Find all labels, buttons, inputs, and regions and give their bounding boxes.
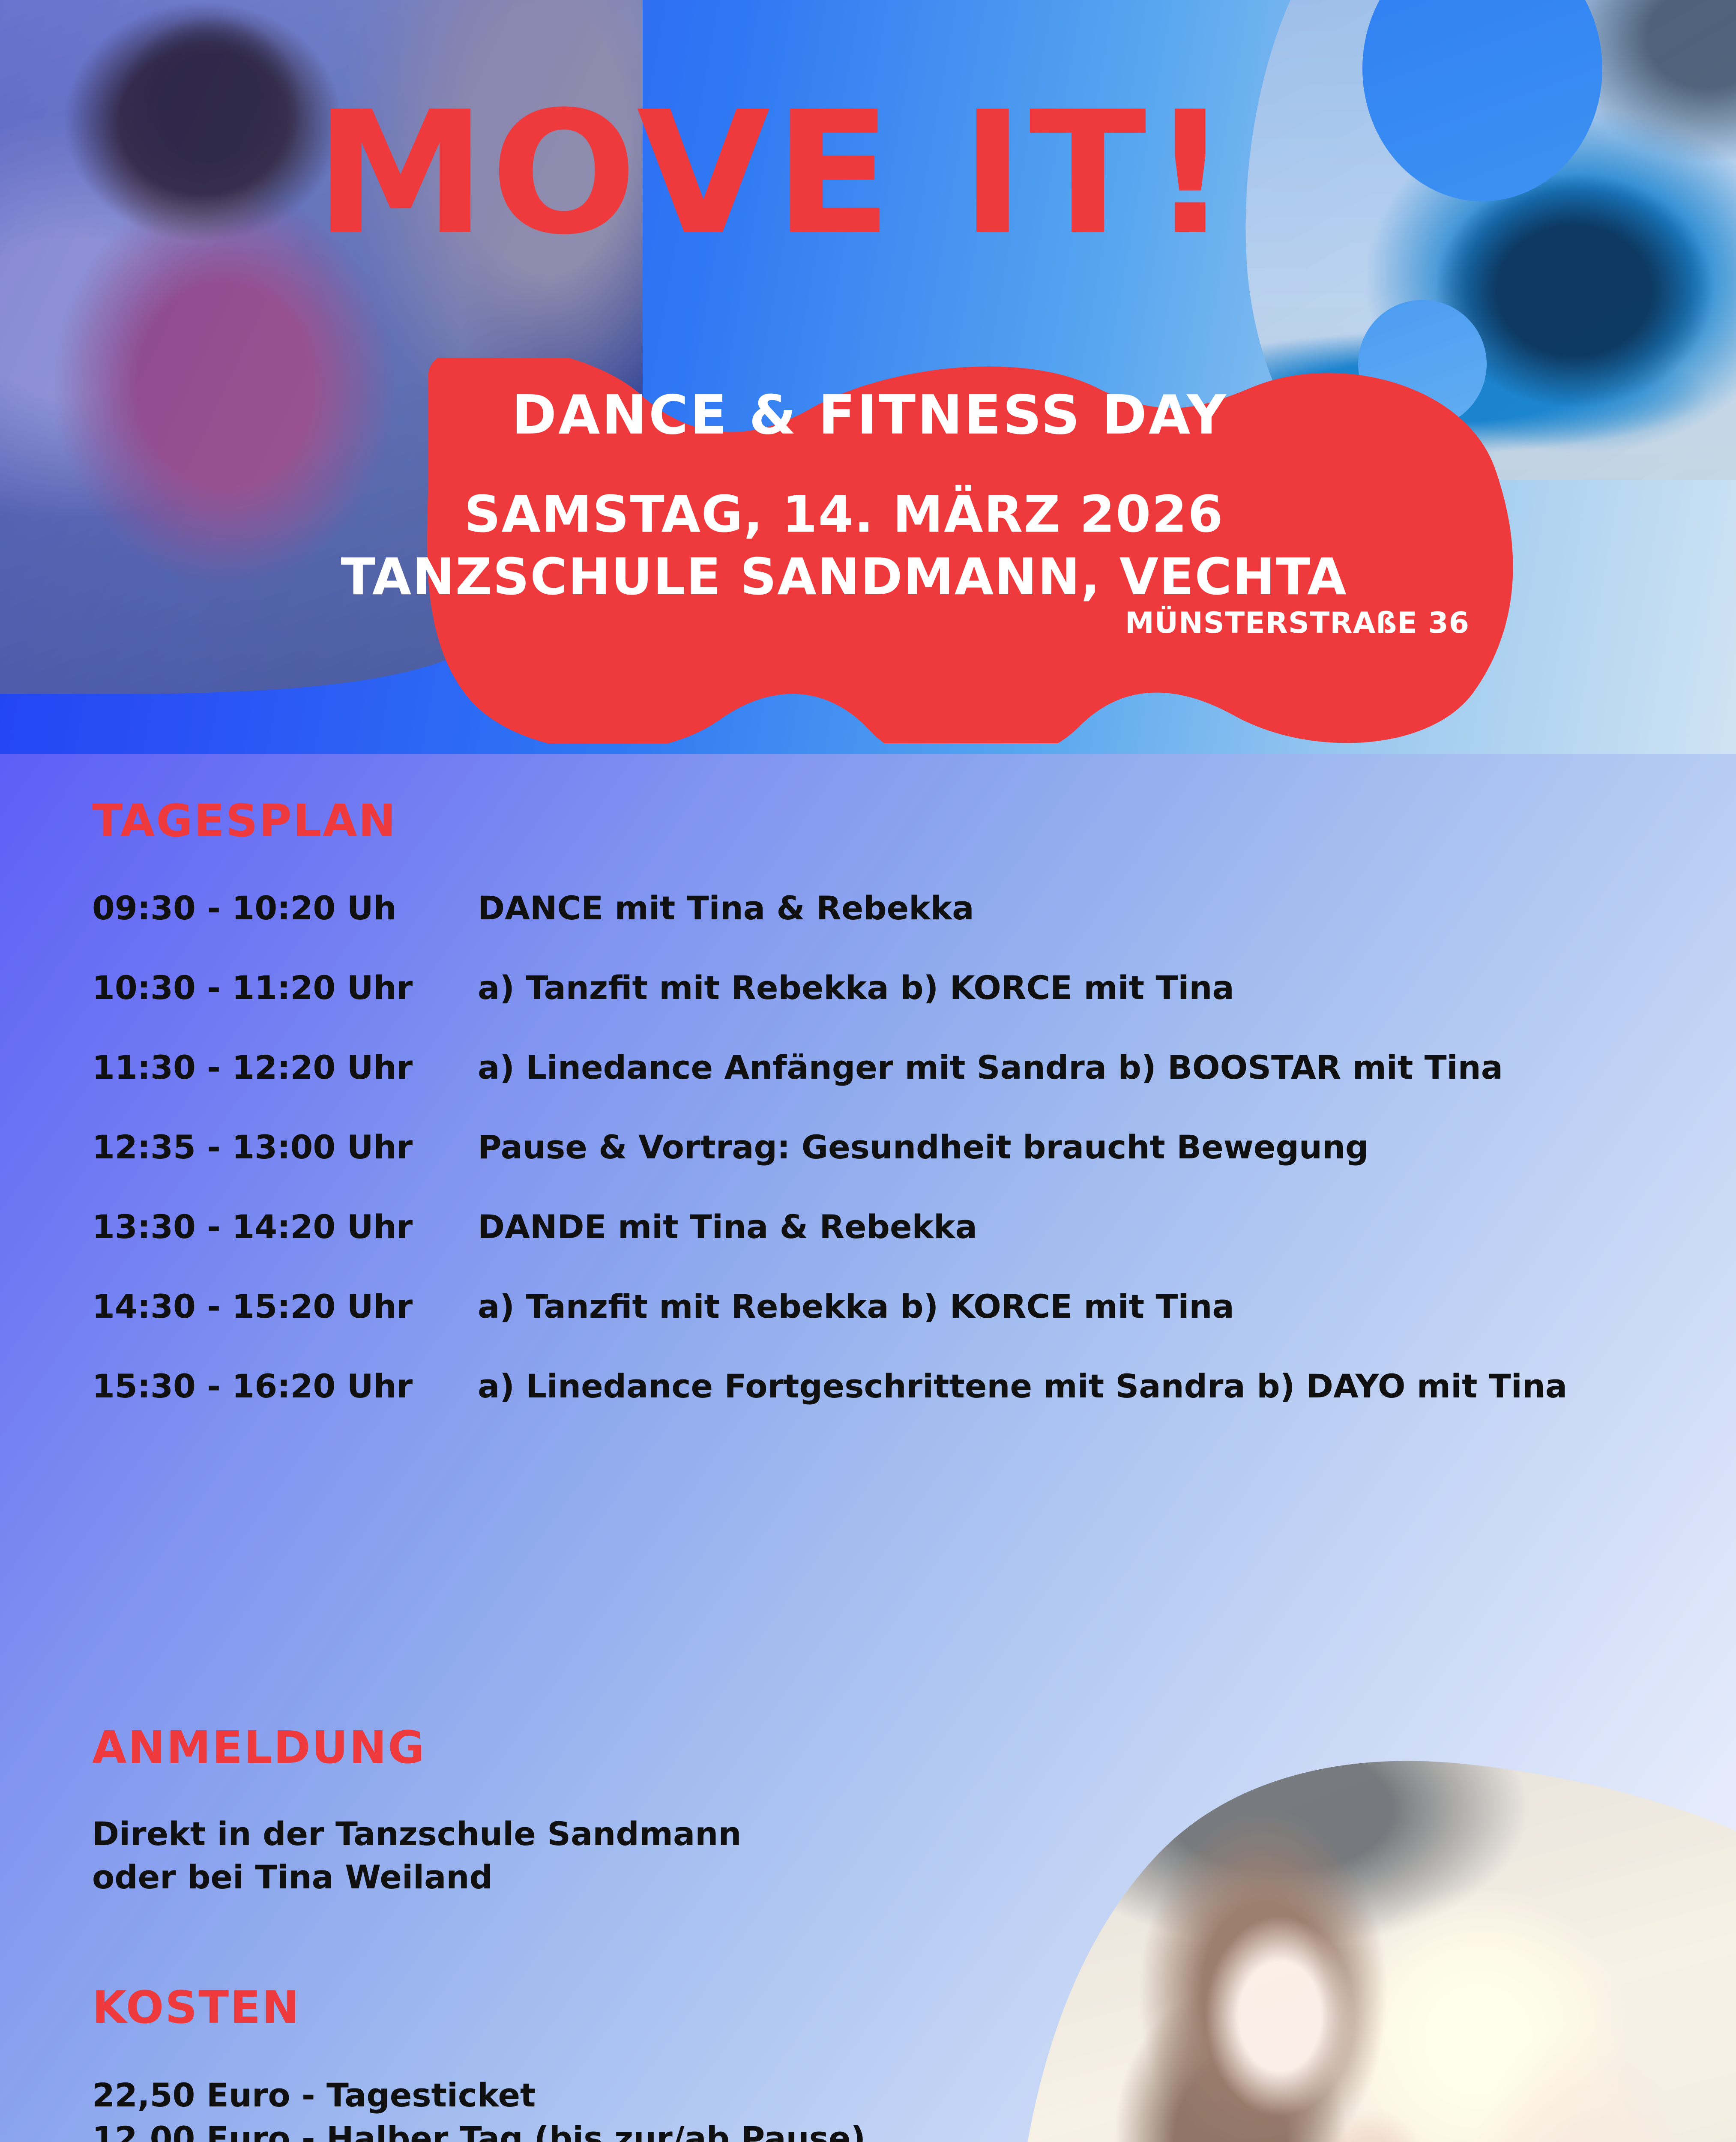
- schedule-row: 12:35 - 13:00 Uhr Pause & Vortrag: Gesun…: [92, 1128, 1677, 1208]
- schedule-desc: DANDE mit Tina & Rebekka: [478, 1208, 1677, 1246]
- kosten-heading: KOSTEN: [92, 1981, 300, 2034]
- schedule-time: 15:30 - 16:20 Uhr: [92, 1367, 478, 1405]
- schedule-row: 11:30 - 12:20 Uhr a) Linedance Anfänger …: [92, 1048, 1677, 1128]
- schedule-time: 14:30 - 15:20 Uhr: [92, 1287, 478, 1325]
- schedule-row: 15:30 - 16:20 Uhr a) Linedance Fortgesch…: [92, 1367, 1677, 1447]
- anmeldung-line-1: Direkt in der Tanzschule Sandmann: [92, 1812, 741, 1855]
- schedule-time: 11:30 - 12:20 Uhr: [92, 1048, 478, 1086]
- schedule-row: 10:30 - 11:20 Uhr a) Tanzfit mit Rebekka…: [92, 969, 1677, 1048]
- photo-light-wash: [956, 1739, 1736, 2142]
- kosten-body: 22,50 Euro - Tagesticket 12,00 Euro - Ha…: [92, 2073, 865, 2142]
- schedule-time: 09:30 - 10:20 Uh: [92, 889, 478, 927]
- schedule-desc: a) Linedance Fortgeschrittene mit Sandra…: [478, 1367, 1677, 1405]
- schedule-desc: a) Linedance Anfänger mit Sandra b) BOOS…: [478, 1048, 1677, 1086]
- poster-title: MOVE IT!: [315, 95, 1495, 252]
- kosten-line-1: 22,50 Euro - Tagesticket: [92, 2073, 865, 2117]
- event-banner: DANCE & FITNESS DAY SAMSTAG, 14. MÄRZ 20…: [214, 358, 1525, 743]
- schedule-time: 12:35 - 13:00 Uhr: [92, 1128, 478, 1166]
- dance-class-woman-photo: [956, 1739, 1736, 2142]
- schedule-desc: a) Tanzfit mit Rebekka b) KORCE mit Tina: [478, 1287, 1677, 1325]
- tagesplan-heading: TAGESPLAN: [92, 795, 397, 847]
- poster-root: MOVE IT! DANCE & FITNESS DAY SAMSTAG, 14…: [0, 0, 1736, 2142]
- schedule-row: 13:30 - 14:20 Uhr DANDE mit Tina & Rebek…: [92, 1208, 1677, 1287]
- schedule-desc: Pause & Vortrag: Gesundheit braucht Bewe…: [478, 1128, 1677, 1166]
- schedule-list: 09:30 - 10:20 Uh DANCE mit Tina & Rebekk…: [92, 889, 1677, 1447]
- schedule-time: 13:30 - 14:20 Uhr: [92, 1208, 478, 1246]
- schedule-time: 10:30 - 11:20 Uhr: [92, 969, 478, 1007]
- schedule-desc: a) Tanzfit mit Rebekka b) KORCE mit Tina: [478, 969, 1677, 1007]
- anmeldung-heading: ANMELDUNG: [92, 1721, 426, 1774]
- banner-date: SAMSTAG, 14. MÄRZ 2026: [214, 485, 1474, 544]
- anmeldung-body: Direkt in der Tanzschule Sandmann oder b…: [92, 1812, 741, 1899]
- schedule-desc: DANCE mit Tina & Rebekka: [478, 889, 1677, 927]
- banner-subtitle: DANCE & FITNESS DAY: [214, 383, 1525, 446]
- banner-address: MÜNSTERSTRAßE 36: [214, 606, 1470, 640]
- schedule-row: 09:30 - 10:20 Uh DANCE mit Tina & Rebekk…: [92, 889, 1677, 969]
- kosten-line-2: 12,00 Euro - Halber Tag (bis zur/ab Paus…: [92, 2117, 865, 2142]
- banner-venue: TANZSCHULE SANDMANN, VECHTA: [214, 547, 1474, 606]
- anmeldung-line-2: oder bei Tina Weiland: [92, 1855, 741, 1899]
- schedule-row: 14:30 - 15:20 Uhr a) Tanzfit mit Rebekka…: [92, 1287, 1677, 1367]
